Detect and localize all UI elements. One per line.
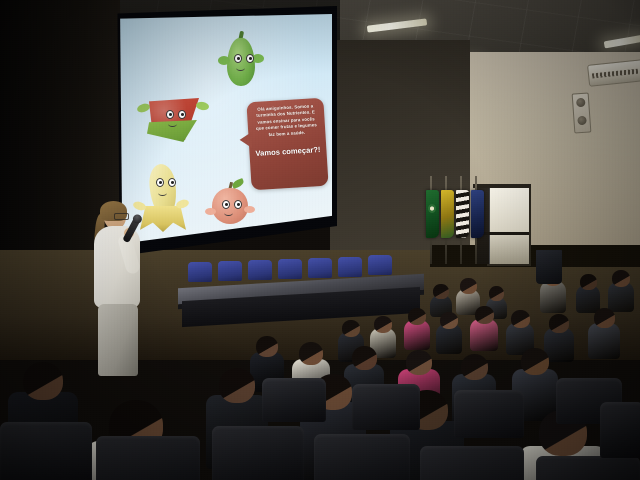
eye [234, 54, 242, 63]
apple-arm-left [205, 208, 216, 215]
banana-eyes [156, 178, 176, 187]
wall-speaker-icon [572, 92, 592, 133]
flag-sao-paulo-cloth [456, 190, 469, 238]
eye [168, 178, 176, 187]
audience-member [470, 306, 498, 354]
slide-surface: Olá amiguinhos. Somos a turminha dos Nut… [118, 14, 332, 246]
audience-member-head [408, 308, 426, 325]
pear-arm-left [218, 56, 230, 65]
eye [234, 200, 242, 209]
speech-bubble-tail [239, 132, 252, 149]
glasses-icon [114, 213, 129, 220]
eye [246, 54, 254, 63]
audience-member-head [440, 312, 458, 329]
apple-character-icon [206, 180, 254, 230]
audience-member-head [475, 306, 494, 324]
auditorium-seat [262, 378, 326, 422]
audience-member-head [511, 310, 530, 328]
apple-arm-right [244, 206, 255, 213]
apple-mouth [224, 210, 233, 216]
standing-adult [536, 250, 562, 284]
eye [178, 110, 186, 119]
audience-member-body [588, 323, 620, 359]
audience-member-head [256, 336, 278, 357]
watermelon-character-icon [143, 94, 205, 146]
audience-member-head [433, 284, 449, 299]
watermelon-mouth [168, 121, 177, 127]
eye [222, 200, 230, 209]
ac-vent [592, 69, 638, 79]
banana-arm-right [175, 198, 190, 210]
audience-member-head [580, 274, 597, 290]
auditorium-seat [420, 446, 524, 480]
speech-bubble-text: Olá amiguinhos. Somos a turminha dos Nut… [253, 103, 320, 139]
speech-bubble: Olá amiguinhos. Somos a turminha dos Nut… [246, 98, 328, 191]
auditorium-seat [314, 434, 410, 480]
audience-member-head [461, 354, 488, 380]
flag-yellow-cloth [441, 190, 454, 238]
audience-member-head [549, 314, 569, 333]
audience-member-head [352, 346, 377, 370]
flag-blue-cloth [471, 190, 484, 238]
audience-member-head [521, 348, 549, 375]
speaker-cone [576, 98, 586, 108]
audience-member-head [612, 270, 630, 287]
auditorium-seat [212, 426, 304, 480]
auditorium-seat [454, 390, 524, 438]
audience-member [404, 308, 430, 353]
pear-eyes [234, 54, 254, 63]
auditorium-seat [536, 456, 640, 480]
audience-member-head [489, 286, 504, 301]
speaker-cone [577, 116, 587, 126]
auditorium-seat [0, 422, 92, 480]
speech-bubble-call-to-action: Vamos começar?! [255, 145, 320, 159]
audience-member-head [342, 320, 360, 337]
eye [166, 110, 174, 119]
auditorium-photo: Olá amiguinhos. Somos a turminha dos Nut… [0, 0, 640, 480]
pear-character-icon [223, 30, 259, 88]
audience-member-head [594, 308, 615, 328]
audience-member-head [460, 278, 477, 294]
auditorium-seat [600, 402, 640, 458]
watermelon-eyes [166, 110, 186, 119]
flag-brazil-cloth [426, 190, 439, 238]
audience-member-head [374, 316, 392, 333]
auditorium-seat [96, 436, 200, 480]
standing-adult-body [536, 250, 562, 284]
pear-mouth [236, 65, 245, 71]
eye [156, 178, 164, 187]
banana-mouth [158, 190, 167, 196]
audience-member [588, 308, 620, 362]
audience-member-head [219, 368, 255, 403]
audience-member-head [406, 350, 432, 375]
auditorium-seat [352, 384, 420, 430]
audience-member-head [23, 362, 63, 400]
audience-area [0, 250, 640, 480]
apple-eyes [222, 200, 242, 209]
audience-member-head [299, 342, 323, 365]
